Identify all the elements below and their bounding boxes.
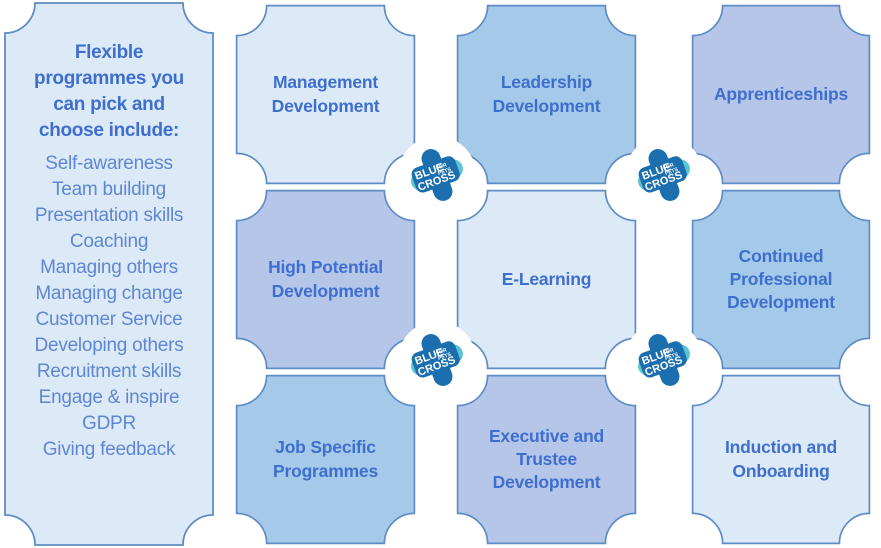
card-apprenticeships[interactable]: Apprenticeships <box>691 4 871 185</box>
infographic-root: Flexible programmes you can pick and cho… <box>0 0 881 548</box>
list-item: Team building <box>12 177 206 203</box>
card-continued-professional-development[interactable]: Continued Professional Development <box>691 189 871 370</box>
list-item: Developing others <box>12 333 206 359</box>
list-item: Coaching <box>12 229 206 255</box>
card-shape <box>691 189 871 370</box>
card-management-development[interactable]: Management Development <box>235 4 416 185</box>
list-item: Presentation skills <box>12 203 206 229</box>
card-leadership-development[interactable]: Leadership Development <box>456 4 637 185</box>
card-executive-and-trustee-development[interactable]: Executive and Trustee Development <box>456 374 637 545</box>
flexible-programmes-panel: Flexible programmes you can pick and cho… <box>4 2 214 546</box>
card-high-potential-development[interactable]: High Potential Development <box>235 189 416 370</box>
blue-cross-for-pets-logo: BLUECROSSFORPETS <box>625 321 703 399</box>
card-induction-and-onboarding[interactable]: Induction and Onboarding <box>691 374 871 545</box>
card-shape <box>456 374 637 545</box>
blue-cross-for-pets-logo: BLUECROSSFORPETS <box>625 136 703 214</box>
list-item: Managing change <box>12 281 206 307</box>
logo-mark: BLUECROSSFORPETS <box>398 321 476 399</box>
card-e-learning[interactable]: E-Learning <box>456 189 637 370</box>
card-shape <box>235 374 416 545</box>
logo-mark: BLUECROSSFORPETS <box>625 136 703 214</box>
logo-mark: BLUECROSSFORPETS <box>398 136 476 214</box>
list-item: GDPR <box>12 411 206 437</box>
card-shape <box>456 189 637 370</box>
list-item: Recruitment skills <box>12 359 206 385</box>
card-shape <box>456 4 637 185</box>
card-shape <box>691 4 871 185</box>
card-shape <box>235 189 416 370</box>
blue-cross-for-pets-logo: BLUECROSSFORPETS <box>398 321 476 399</box>
programme-list: Self-awareness Team building Presentatio… <box>12 151 206 463</box>
list-item: Engage & inspire <box>12 385 206 411</box>
card-shape <box>691 374 871 545</box>
card-shape <box>235 4 416 185</box>
list-item: Managing others <box>12 255 206 281</box>
logo-mark: BLUECROSSFORPETS <box>625 321 703 399</box>
list-item: Giving feedback <box>12 437 206 463</box>
list-item: Self-awareness <box>12 151 206 177</box>
card-job-specific-programmes[interactable]: Job Specific Programmes <box>235 374 416 545</box>
list-item: Customer Service <box>12 307 206 333</box>
blue-cross-for-pets-logo: BLUECROSSFORPETS <box>398 136 476 214</box>
panel-heading: Flexible programmes you can pick and cho… <box>12 40 206 144</box>
